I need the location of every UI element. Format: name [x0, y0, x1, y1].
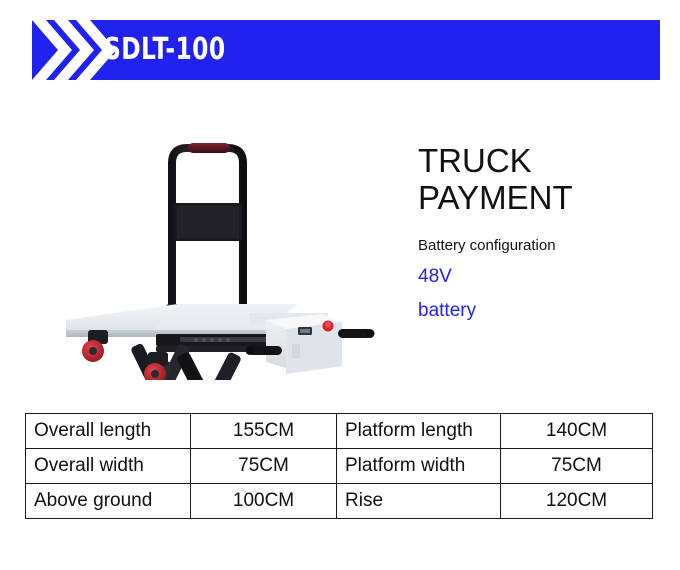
- info-panel: TRUCK PAYMENT Battery configuration 48V …: [418, 142, 668, 324]
- spec-label: Above ground: [26, 484, 191, 519]
- table-row: Above ground 100CM Rise 120CM: [26, 484, 653, 519]
- spec-value: 120CM: [501, 484, 653, 519]
- page-title: SDLT-100: [104, 20, 226, 80]
- scissor-lift-trolley-illustration: [60, 108, 400, 380]
- table-row: Overall length 155CM Platform length 140…: [26, 414, 653, 449]
- battery-voltage-value: 48V: [418, 256, 668, 290]
- handle-assembly: [166, 143, 250, 318]
- spec-label: Platform length: [337, 414, 501, 449]
- spec-value: 140CM: [501, 414, 653, 449]
- product-title-line2: PAYMENT: [418, 179, 573, 216]
- spec-label: Platform width: [337, 449, 501, 484]
- specification-table: Overall length 155CM Platform length 140…: [25, 413, 653, 519]
- spec-label: Overall width: [26, 449, 191, 484]
- battery-type-value: battery: [418, 290, 668, 324]
- product-image: [60, 108, 400, 380]
- table-row: Overall width 75CM Platform width 75CM: [26, 449, 653, 484]
- handle-grip: [188, 143, 230, 153]
- spec-value: 100CM: [191, 484, 337, 519]
- product-title: TRUCK PAYMENT: [418, 142, 668, 216]
- spec-label: Rise: [337, 484, 501, 519]
- caster-group: [82, 330, 168, 380]
- spec-label: Overall length: [26, 414, 191, 449]
- header-banner: SDLT-100: [32, 20, 660, 80]
- spec-value: 75CM: [501, 449, 653, 484]
- spec-value: 155CM: [191, 414, 337, 449]
- spec-value: 75CM: [191, 449, 337, 484]
- product-title-line1: TRUCK: [418, 142, 532, 179]
- battery-configuration-label: Battery configuration: [418, 216, 668, 256]
